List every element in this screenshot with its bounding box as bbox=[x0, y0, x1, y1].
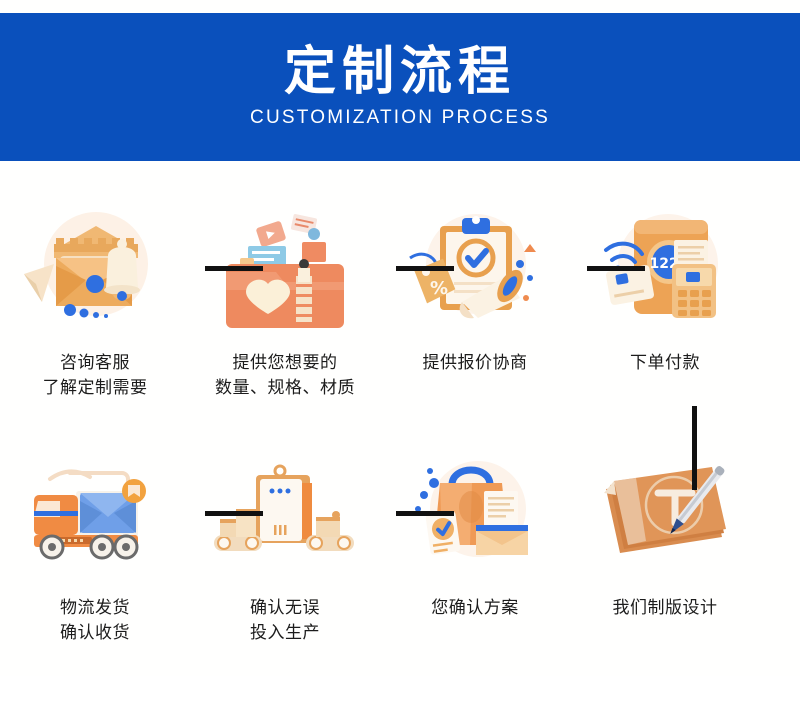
folder-heart-icon bbox=[210, 206, 360, 341]
header-banner: 定制流程 CUSTOMIZATION PROCESS bbox=[0, 13, 800, 161]
page-title: 定制流程 bbox=[284, 45, 516, 100]
step-label: 确认无误 投入生产 bbox=[250, 596, 320, 645]
connector-1-2 bbox=[205, 266, 263, 271]
step-label: 您确认方案 bbox=[431, 596, 519, 621]
step-label: 我们制版设计 bbox=[613, 596, 718, 621]
page-subtitle: CUSTOMIZATION PROCESS bbox=[250, 107, 550, 129]
delivery-truck-icon bbox=[20, 451, 170, 586]
envelope-bell-icon bbox=[20, 206, 170, 341]
clipboard-megaphone-icon: % bbox=[400, 206, 550, 341]
process-row-bottom: 物流发货 确认收货 bbox=[0, 451, 800, 701]
step-label: 下单付款 bbox=[630, 351, 700, 376]
connector-2-3 bbox=[396, 266, 454, 271]
step-confirm-production[interactable]: 确认无误 投入生产 bbox=[190, 451, 380, 701]
svg-text:%: % bbox=[430, 278, 448, 299]
connector-3-4 bbox=[587, 266, 645, 271]
process-steps-area: 咨询客服 了解定制需要 bbox=[0, 161, 800, 676]
step-quote-negotiation[interactable]: % 提供报价协商 bbox=[380, 206, 570, 456]
step-confirm-plan[interactable]: 您确认方案 bbox=[380, 451, 570, 701]
pos-terminal-icon: 1221 bbox=[590, 206, 740, 341]
conveyor-belt-icon bbox=[210, 451, 360, 586]
step-shipping-receive[interactable]: 物流发货 确认收货 bbox=[0, 451, 190, 701]
customization-process-infographic: 定制流程 CUSTOMIZATION PROCESS bbox=[0, 0, 800, 676]
step-place-order-payment[interactable]: 1221 bbox=[570, 206, 760, 456]
shopping-bag-approval-icon bbox=[400, 451, 550, 586]
process-row-top: 咨询客服 了解定制需要 bbox=[0, 206, 800, 456]
connector-4-5-vertical bbox=[692, 406, 697, 490]
step-label: 提供您想要的 数量、规格、材质 bbox=[215, 351, 355, 400]
step-plate-design[interactable]: 我们制版设计 bbox=[570, 451, 760, 701]
connector-6-7 bbox=[396, 511, 454, 516]
step-label: 咨询客服 了解定制需要 bbox=[43, 351, 148, 400]
step-label: 提供报价协商 bbox=[423, 351, 528, 376]
blueprint-pen-icon bbox=[590, 451, 740, 586]
step-provide-specs[interactable]: 提供您想要的 数量、规格、材质 bbox=[190, 206, 380, 456]
connector-7-8 bbox=[205, 511, 263, 516]
step-consult-service[interactable]: 咨询客服 了解定制需要 bbox=[0, 206, 190, 456]
step-label: 物流发货 确认收货 bbox=[60, 596, 130, 645]
